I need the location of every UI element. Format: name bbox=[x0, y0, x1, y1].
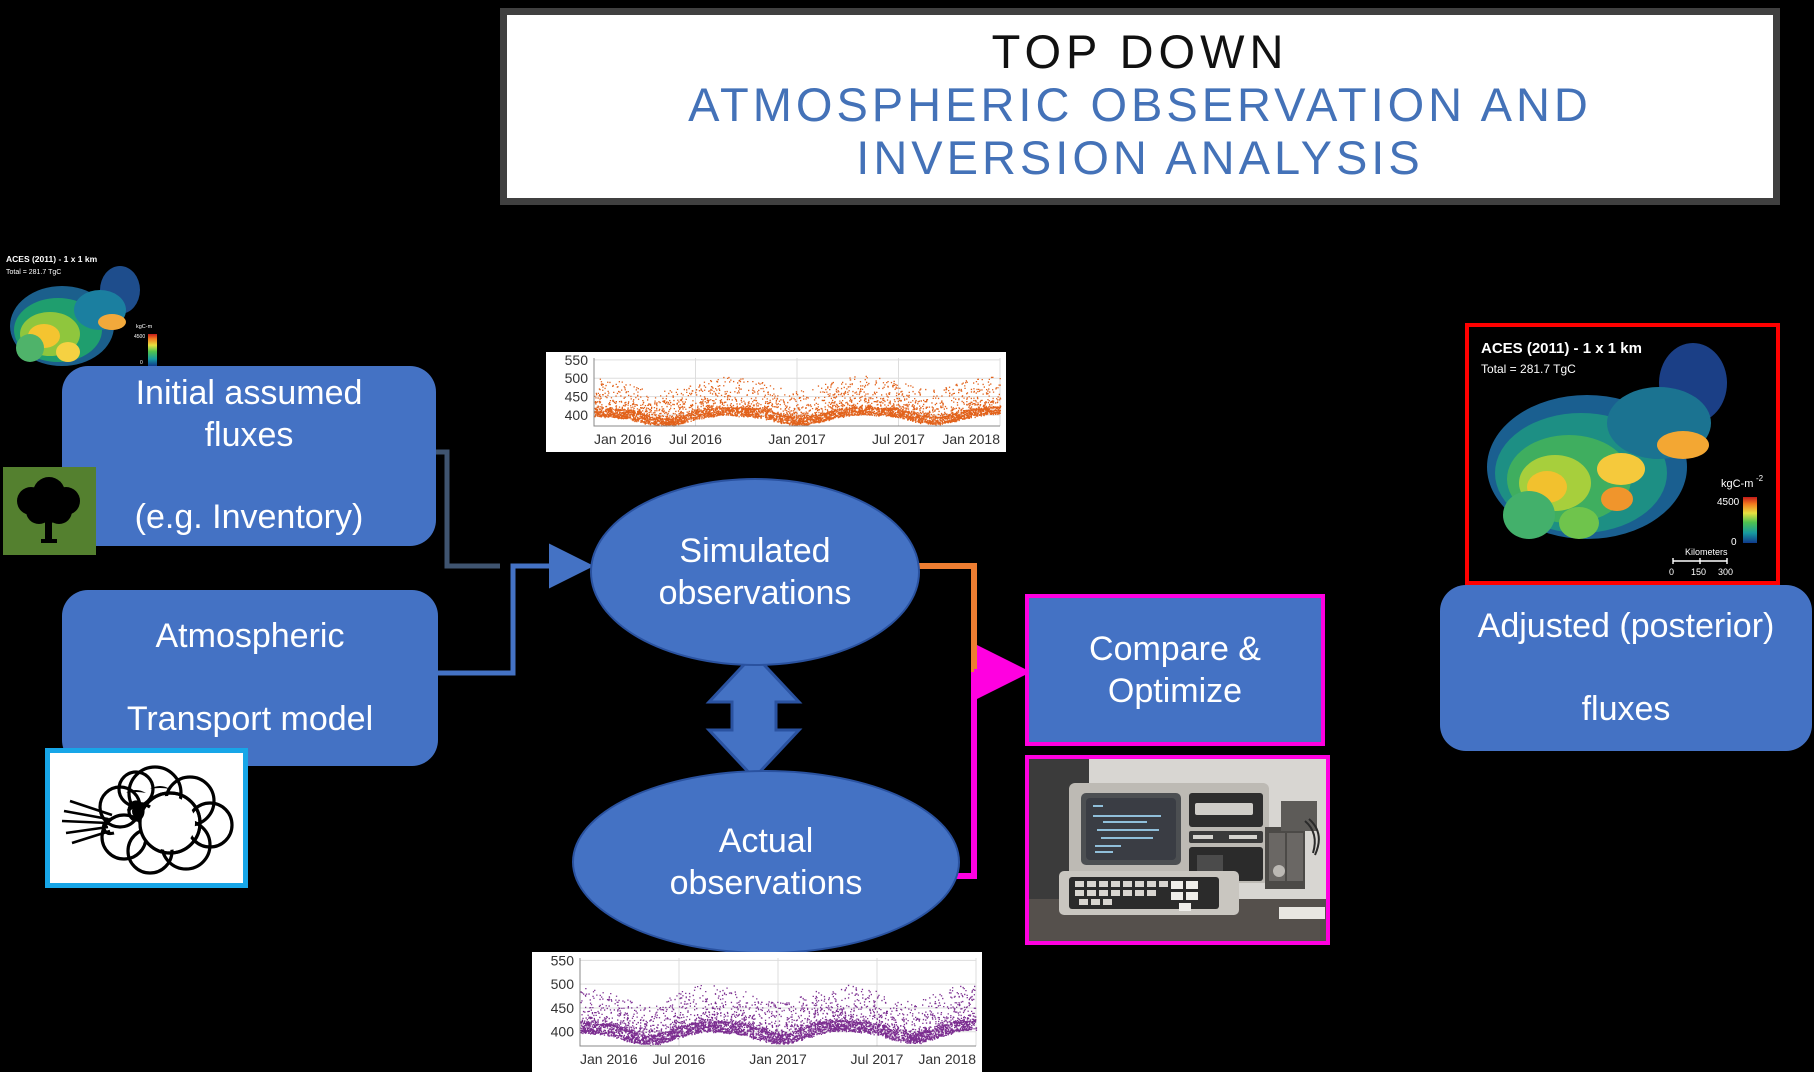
aces-map-right: ACES (2011) - 1 x 1 km Total = 281.7 TgC… bbox=[1465, 323, 1780, 585]
node-adjusted-line2: fluxes bbox=[1462, 689, 1791, 730]
x-tick-label: Jan 2018 bbox=[942, 431, 1000, 447]
x-tick-label: Jan 2017 bbox=[768, 431, 826, 447]
chart-act-svg: 400450500550Jan 2016Jul 2016Jan 2017Jul … bbox=[532, 952, 982, 1072]
x-tick-label: Jul 2017 bbox=[851, 1051, 904, 1067]
title-line-top-down: TOP DOWN bbox=[992, 25, 1289, 79]
chart-simulated-observations: 400450500550Jan 2016Jul 2016Jan 2017Jul … bbox=[546, 352, 1006, 452]
node-compare-and-optimize[interactable]: Compare & Optimize bbox=[1025, 594, 1325, 746]
aces-map-right-legend-units: kgC-m bbox=[1721, 478, 1753, 490]
node-simulated-line1: Simulated bbox=[679, 532, 830, 570]
connector-transport-to-simulated bbox=[438, 566, 584, 673]
slide-canvas: TOP DOWN ATMOSPHERIC OBSERVATION AND INV… bbox=[0, 0, 1814, 1072]
node-simulated-line2: observations bbox=[659, 574, 852, 612]
node-initial-assumed-fluxes-line1: Initial assumed fluxes bbox=[78, 373, 420, 456]
y-tick-label: 400 bbox=[565, 407, 589, 423]
node-transport-line1: Atmospheric bbox=[111, 616, 389, 657]
x-tick-label: Jan 2018 bbox=[918, 1051, 976, 1067]
aces-map-left-legend-max: 4500 bbox=[134, 334, 145, 340]
node-actual-line1: Actual bbox=[719, 822, 814, 860]
x-tick-label: Jul 2016 bbox=[669, 431, 722, 447]
node-compare-line1: Compare & bbox=[1089, 630, 1261, 668]
x-tick-label: Jan 2016 bbox=[580, 1051, 638, 1067]
y-tick-label: 550 bbox=[551, 952, 575, 968]
connector-simulated-to-compare bbox=[916, 566, 974, 672]
svg-text:0: 0 bbox=[1669, 567, 1674, 577]
aces-map-right-title: ACES (2011) - 1 x 1 km bbox=[1481, 340, 1642, 357]
connector-inventory-to-simulated bbox=[436, 452, 500, 566]
node-adjusted-posterior-fluxes[interactable]: Adjusted (posterior) fluxes bbox=[1440, 585, 1812, 751]
y-tick-label: 500 bbox=[551, 976, 575, 992]
node-simulated-observations[interactable]: Simulated observations bbox=[590, 478, 920, 666]
title-line-subtitle: ATMOSPHERIC OBSERVATION AND INVERSION AN… bbox=[540, 79, 1740, 184]
x-tick-label: Jul 2017 bbox=[872, 431, 925, 447]
node-actual-line2: observations bbox=[670, 864, 863, 902]
aces-map-left-title: ACES (2011) - 1 x 1 km bbox=[6, 254, 98, 264]
vintage-computer-photo bbox=[1025, 755, 1330, 945]
node-initial-assumed-fluxes[interactable]: Initial assumed fluxes (e.g. Inventory) bbox=[62, 366, 436, 546]
y-tick-label: 550 bbox=[565, 352, 589, 368]
aces-map-right-subtitle: Total = 281.7 TgC bbox=[1481, 362, 1576, 376]
chart-actual-observations: 400450500550Jan 2016Jul 2016Jan 2017Jul … bbox=[532, 952, 982, 1072]
svg-text:150: 150 bbox=[1691, 567, 1706, 577]
y-tick-label: 450 bbox=[565, 389, 589, 405]
node-actual-observations[interactable]: Actual observations bbox=[572, 770, 960, 954]
aces-map-right-legend-min: 0 bbox=[1731, 537, 1737, 548]
svg-text:300: 300 bbox=[1718, 567, 1733, 577]
node-adjusted-line1: Adjusted (posterior) bbox=[1462, 606, 1791, 647]
node-atmospheric-transport-model[interactable]: Atmospheric Transport model bbox=[62, 590, 438, 766]
y-tick-label: 450 bbox=[551, 1000, 575, 1016]
node-transport-line2: Transport model bbox=[111, 699, 389, 740]
aces-map-right-legend-max: 4500 bbox=[1717, 497, 1740, 508]
aces-map-left-legend-units: kgC-m bbox=[136, 324, 153, 330]
node-compare-line2: Optimize bbox=[1108, 672, 1242, 710]
node-initial-assumed-fluxes-line2: (e.g. Inventory) bbox=[78, 497, 420, 538]
wind-cloud-icon bbox=[45, 748, 248, 888]
double-headed-arrow-icon bbox=[704, 652, 804, 780]
chart-sim-svg: 400450500550Jan 2016Jul 2016Jan 2017Jul … bbox=[546, 352, 1006, 452]
tree-icon bbox=[3, 467, 96, 555]
y-tick-label: 400 bbox=[551, 1024, 575, 1040]
aces-map-right-scalebar-label: Kilometers bbox=[1685, 547, 1728, 557]
x-tick-label: Jan 2016 bbox=[594, 431, 652, 447]
aces-map-left-subtitle: Total = 281.7 TgC bbox=[6, 269, 61, 276]
y-tick-label: 500 bbox=[565, 370, 589, 386]
x-tick-label: Jul 2016 bbox=[653, 1051, 706, 1067]
aces-map-right-legend-exponent: -2 bbox=[1756, 474, 1764, 483]
x-tick-label: Jan 2017 bbox=[749, 1051, 807, 1067]
slide-title-box: TOP DOWN ATMOSPHERIC OBSERVATION AND INV… bbox=[500, 8, 1780, 205]
